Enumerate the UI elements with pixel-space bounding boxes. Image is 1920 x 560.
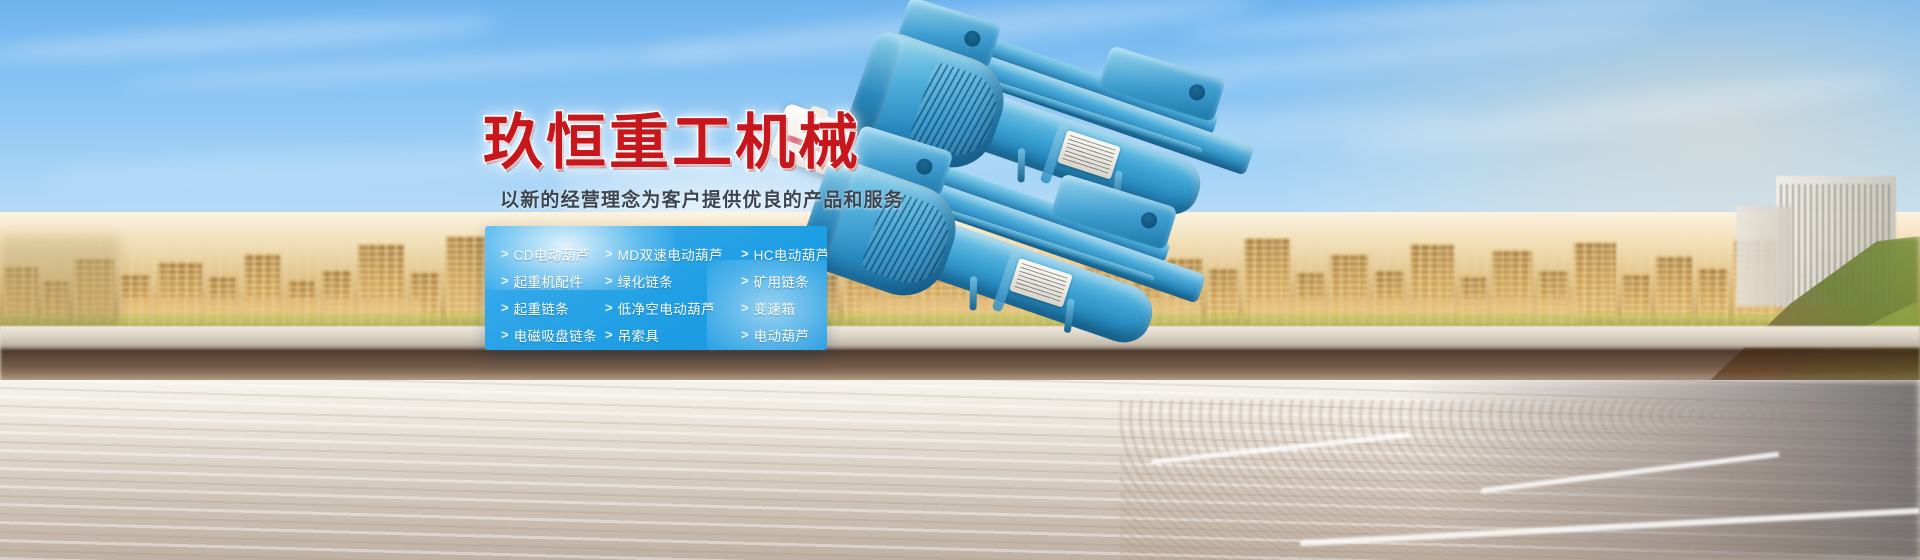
chevron-right-icon: > (605, 247, 613, 260)
bracket-hole (1187, 82, 1207, 102)
chevron-right-icon: > (605, 328, 613, 341)
hero-banner: 玖恒重工机械 以新的经营理念为客户提供优良的产品和服务 > CD电动葫芦 > M… (0, 0, 1920, 560)
chevron-right-icon: > (605, 274, 613, 287)
product-link-label: 低净空电动葫芦 (618, 298, 715, 318)
bracket-hole (1139, 210, 1159, 230)
chevron-right-icon: > (501, 301, 509, 314)
product-link-hc-hoist[interactable]: > HC电动葫芦 (741, 244, 827, 264)
secondary-tower (1736, 206, 1792, 306)
electric-hoist-product-image (860, 30, 1560, 450)
product-link-md-dual-speed-hoist[interactable]: > MD双速电动葫芦 (605, 244, 741, 264)
product-links-panel: > CD电动葫芦 > MD双速电动葫芦 > HC电动葫芦 > 起重机配件 > 绿… (485, 226, 827, 350)
product-link-electric-hoist[interactable]: > 电动葫芦 (741, 325, 827, 345)
product-link-label: 起重链条 (514, 298, 570, 318)
product-link-label: 矿用链条 (754, 271, 810, 291)
product-link-gearbox[interactable]: > 变速箱 (741, 298, 827, 318)
chevron-right-icon: > (501, 274, 509, 287)
product-link-low-headroom-hoist[interactable]: > 低净空电动葫芦 (605, 298, 741, 318)
product-link-slings[interactable]: > 吊索具 (605, 325, 741, 345)
product-link-mining-chain[interactable]: > 矿用链条 (741, 271, 827, 291)
bracket-hole (914, 157, 934, 177)
product-link-label: 起重机配件 (514, 271, 584, 291)
product-link-lifting-chain[interactable]: > 起重链条 (501, 298, 605, 318)
product-link-label: 吊索具 (618, 325, 660, 345)
company-headline: 玖恒重工机械 (483, 113, 861, 173)
product-link-cd-hoist[interactable]: > CD电动葫芦 (501, 244, 605, 264)
company-slogan: 以新的经营理念为客户提供优良的产品和服务 (500, 185, 904, 212)
chevron-right-icon: > (741, 328, 749, 341)
chevron-right-icon: > (501, 328, 509, 341)
product-link-magnetic-chuck-chain[interactable]: > 电磁吸盘链条 (501, 325, 605, 345)
chevron-right-icon: > (741, 274, 749, 287)
product-link-label: 绿化链条 (618, 271, 674, 291)
hoist-clamp (1018, 148, 1026, 182)
left-foliage-blur (0, 236, 120, 332)
product-link-greening-chain[interactable]: > 绿化链条 (605, 271, 741, 291)
product-link-label: 电磁吸盘链条 (514, 325, 597, 345)
chevron-right-icon: > (605, 301, 613, 314)
product-link-label: 变速箱 (754, 298, 796, 318)
hoist-clamp (970, 276, 978, 310)
product-link-label: CD电动葫芦 (514, 244, 590, 264)
chevron-right-icon: > (741, 247, 749, 260)
product-link-label: HC电动葫芦 (754, 244, 827, 264)
product-link-crane-parts[interactable]: > 起重机配件 (501, 271, 605, 291)
product-link-label: MD双速电动葫芦 (618, 244, 723, 264)
product-links-grid: > CD电动葫芦 > MD双速电动葫芦 > HC电动葫芦 > 起重机配件 > 绿… (485, 226, 827, 350)
chevron-right-icon: > (741, 301, 749, 314)
product-link-label: 电动葫芦 (754, 325, 810, 345)
chevron-right-icon: > (501, 247, 509, 260)
bracket-hole (962, 29, 982, 49)
